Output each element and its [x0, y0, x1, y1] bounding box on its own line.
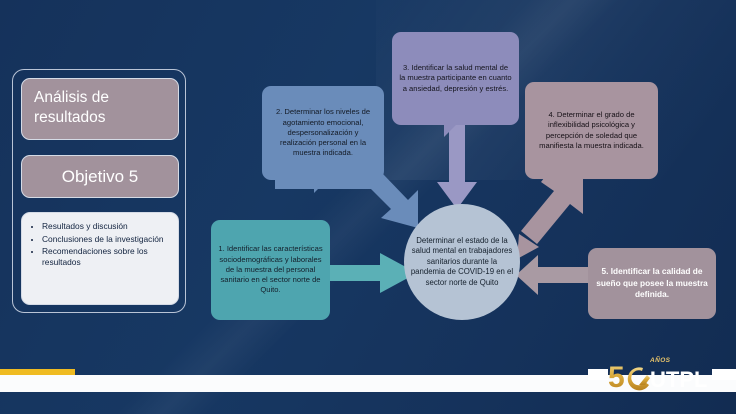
- arrow-node5-to-center: [516, 255, 596, 295]
- list-item: Conclusiones de la investigación: [42, 234, 172, 245]
- panel-objective-card: Objetivo 5: [21, 155, 179, 198]
- objective-node-5[interactable]: 5. Identificar la calidad de sueño que p…: [588, 248, 716, 319]
- central-objective-label: Determinar el estado de la salud mental …: [410, 236, 514, 288]
- bullet-list: Resultados y discusión Conclusiones de l…: [26, 221, 172, 268]
- objective-node-4-label: 4. Determinar el grado de inflexibilidad…: [532, 110, 651, 151]
- objective-node-4[interactable]: 4. Determinar el grado de inflexibilidad…: [525, 82, 658, 179]
- arrow-node3-to-center: [437, 120, 477, 210]
- logo-anios-label: AÑOS: [650, 357, 670, 364]
- slide-canvas: Análisis de resultados Objetivo 5 Result…: [0, 0, 736, 414]
- objective-node-2-label: 2. Determinar los niveles de agotamiento…: [269, 107, 377, 159]
- arrow-node1-to-center: [318, 253, 418, 293]
- utpl-logo: 5 UTPL AÑOS: [588, 355, 736, 397]
- objective-node-3-label: 3. Identificar la salud mental de la mue…: [399, 63, 512, 94]
- list-item: Recomendaciones sobre los resultados: [42, 246, 172, 268]
- objective-node-1-label: 1. Identificar las características socio…: [218, 244, 323, 296]
- svg-text:UTPL: UTPL: [650, 367, 707, 391]
- callout-tail: [314, 180, 327, 193]
- panel-title-card: Análisis de resultados: [21, 78, 179, 140]
- objective-node-2[interactable]: 2. Determinar los niveles de agotamiento…: [262, 86, 384, 180]
- callout-tail: [543, 179, 556, 192]
- page-title: Análisis de resultados: [34, 89, 109, 126]
- svg-text:5: 5: [608, 361, 625, 391]
- panel-bullets-card: Resultados y discusión Conclusiones de l…: [21, 212, 179, 305]
- objective-node-3[interactable]: 3. Identificar la salud mental de la mue…: [392, 32, 519, 125]
- objective-node-5-label: 5. Identificar la calidad de sueño que p…: [595, 266, 709, 300]
- logo-chip-left: [588, 369, 608, 380]
- list-item: Resultados y discusión: [42, 221, 172, 232]
- objective-node-1[interactable]: 1. Identificar las características socio…: [211, 220, 330, 320]
- callout-tail: [444, 125, 456, 137]
- central-objective-node[interactable]: Determinar el estado de la salud mental …: [404, 204, 520, 320]
- left-panel: Análisis de resultados Objetivo 5 Result…: [12, 69, 186, 313]
- objective-label: Objetivo 5: [62, 167, 139, 187]
